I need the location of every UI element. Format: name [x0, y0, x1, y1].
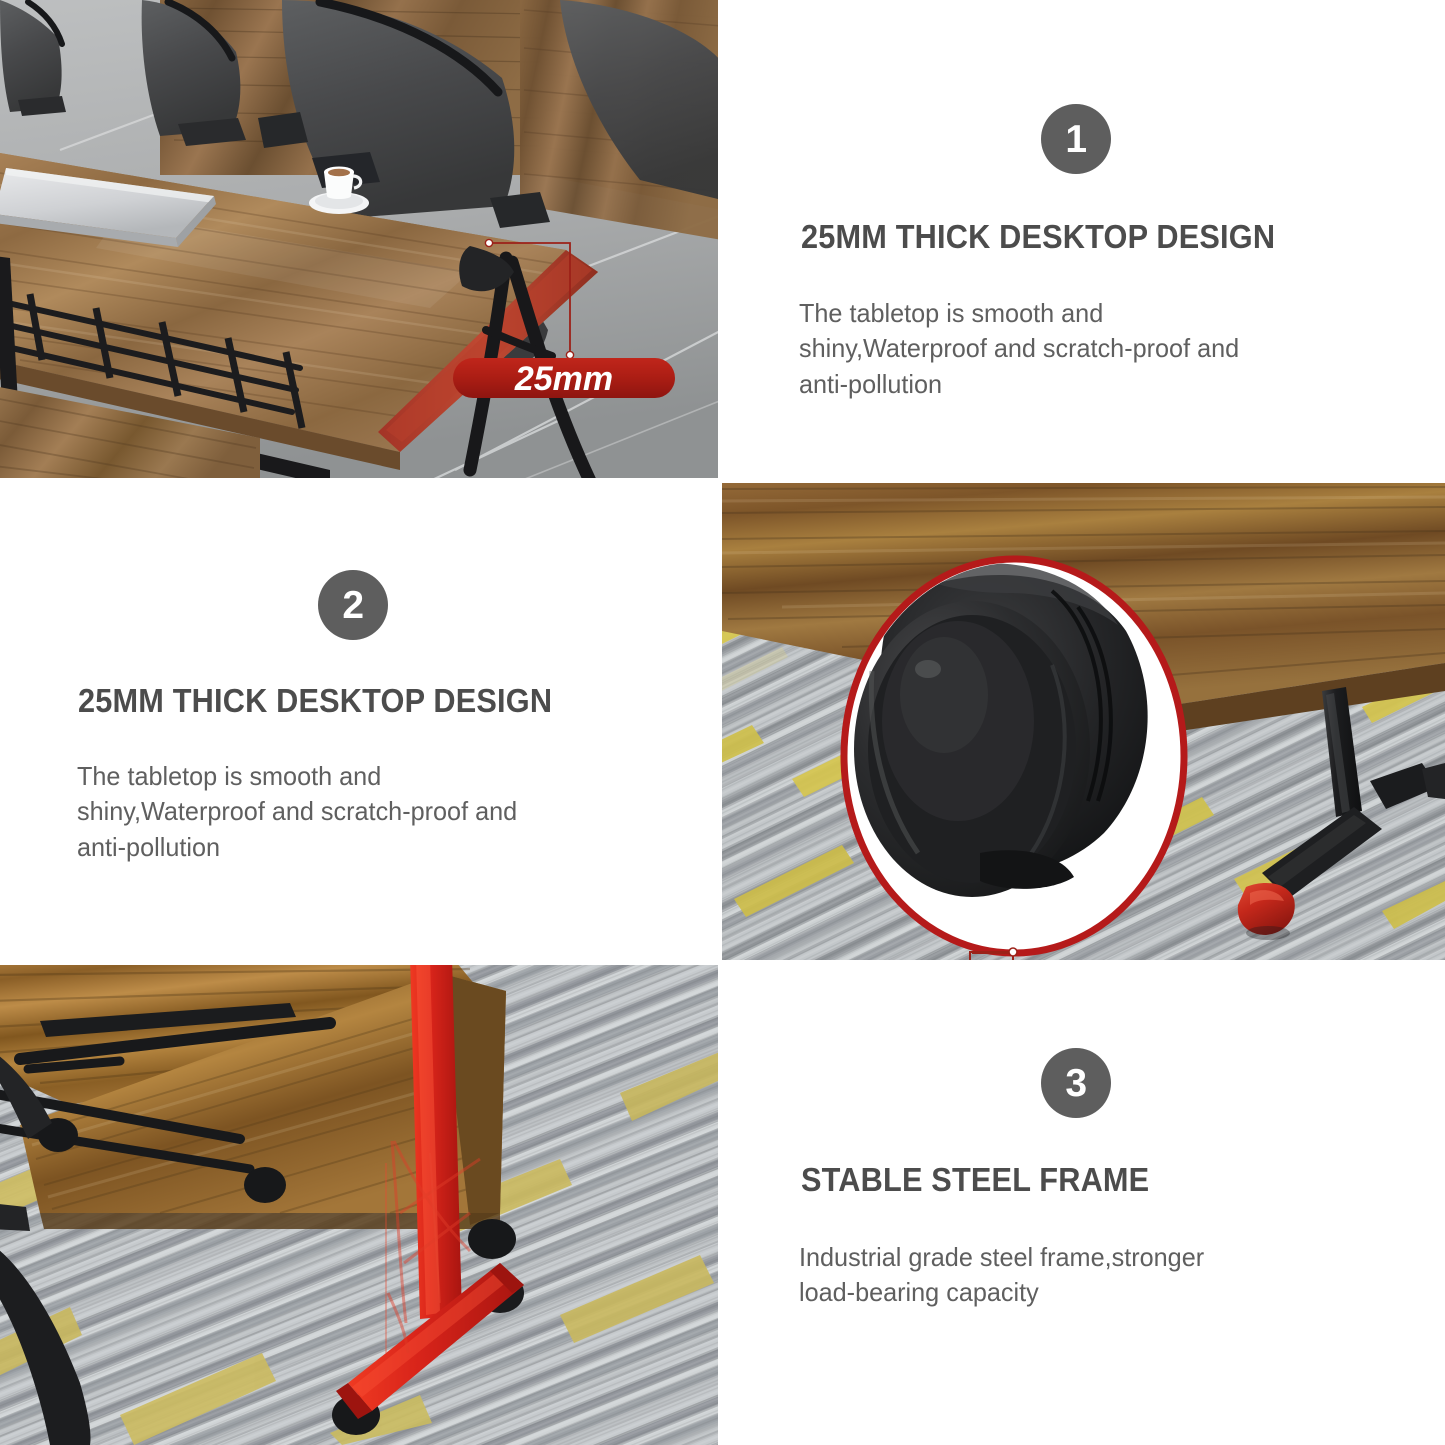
- product-feature-infographic: 25mm 25mm 1 25MM THICK DESKTOP DESIGN Th…: [0, 0, 1445, 1445]
- feature-body-line: shiny,Waterproof and scratch-proof and: [799, 331, 1362, 366]
- text-cell-feature-3: 3 STABLE STEEL FRAME Industrial grade st…: [722, 963, 1445, 1445]
- feature-body-line: The tabletop is smooth and: [799, 296, 1362, 331]
- step-number-badge-2: 2: [318, 570, 388, 640]
- feature-body-3: Industrial grade steel frame,stronger lo…: [799, 1240, 1362, 1311]
- photo-caster-wheel: [722, 481, 1445, 963]
- text-cell-feature-2: 2 25MM THICK DESKTOP DESIGN The tabletop…: [0, 481, 722, 963]
- step-number-2: 2: [342, 586, 363, 625]
- feature-body-line: load-bearing capacity: [799, 1275, 1362, 1310]
- feature-body-2: The tabletop is smooth and shiny,Waterpr…: [77, 759, 635, 865]
- feature-block-2: 2 25MM THICK DESKTOP DESIGN The tabletop…: [0, 481, 722, 963]
- feature-body-line: anti-pollution: [77, 830, 635, 865]
- step-number-3: 3: [1065, 1064, 1086, 1103]
- feature-block-3: 3 STABLE STEEL FRAME Industrial grade st…: [722, 963, 1445, 1445]
- feature-body-line: shiny,Waterproof and scratch-proof and: [77, 794, 635, 829]
- feature-headline-3: STABLE STEEL FRAME: [801, 1161, 1149, 1199]
- photo-desktop-thickness: 25mm 25mm: [0, 0, 722, 481]
- text-cell-feature-1: 1 25MM THICK DESKTOP DESIGN The tabletop…: [722, 0, 1445, 481]
- feature-body-line: Industrial grade steel frame,stronger: [799, 1240, 1362, 1275]
- photo-cell-steel-frame: [0, 963, 722, 1445]
- photo-cell-desktop-thickness: 25mm 25mm: [0, 0, 722, 481]
- step-number-badge-1: 1: [1041, 104, 1111, 174]
- photo-cell-caster-wheel: [722, 481, 1445, 963]
- feature-headline-1: 25MM THICK DESKTOP DESIGN: [801, 218, 1275, 256]
- feature-body-line: The tabletop is smooth and: [77, 759, 635, 794]
- badge-25mm: [453, 358, 675, 398]
- feature-block-1: 1 25MM THICK DESKTOP DESIGN The tabletop…: [722, 0, 1445, 481]
- step-number-badge-3: 3: [1041, 1048, 1111, 1118]
- feature-body-1: The tabletop is smooth and shiny,Waterpr…: [799, 296, 1362, 402]
- gutter-horizontal-1: [0, 478, 1445, 483]
- feature-headline-2: 25MM THICK DESKTOP DESIGN: [78, 682, 552, 720]
- feature-body-line: anti-pollution: [799, 367, 1362, 402]
- gutter-vertical-row3: [718, 963, 723, 1445]
- gutter-vertical-row1: [718, 0, 723, 481]
- step-number-1: 1: [1065, 120, 1086, 159]
- photo-steel-frame: [0, 963, 722, 1445]
